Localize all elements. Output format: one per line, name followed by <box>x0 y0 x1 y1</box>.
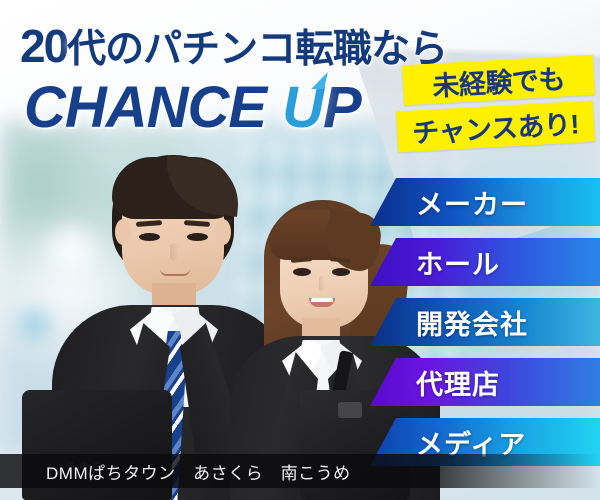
category-label: 代理店 <box>416 363 500 402</box>
category-button-maker[interactable]: メーカー <box>370 178 600 226</box>
man-ear-right <box>215 219 231 245</box>
woman-eye-left <box>293 268 311 276</box>
logo-letter-u: U <box>282 74 323 141</box>
man-eye-right <box>187 233 208 241</box>
category-button-development-company[interactable]: 開発会社 <box>370 298 600 346</box>
category-list: メーカー ホール 開発会社 代理店 メディア <box>370 178 600 478</box>
category-label: 開発会社 <box>416 303 528 342</box>
category-label: メーカー <box>416 183 528 222</box>
woman-eye-right <box>332 268 350 276</box>
credit-text: DMMぱちタウン あさくら 南こうめ <box>0 459 351 484</box>
chance-up-logo: CHANCEUP <box>24 74 361 141</box>
man-mouth <box>160 269 190 276</box>
handbag-clasp <box>338 402 362 418</box>
category-button-hall[interactable]: ホール <box>370 238 600 286</box>
logo-word-chance: CHANCE <box>24 75 266 140</box>
badge-label: 未経験でも <box>431 57 565 103</box>
credit-bar: DMMぱちタウン あさくら 南こうめ <box>0 454 600 488</box>
man-ear-left <box>115 219 131 245</box>
people-photo <box>0 140 430 500</box>
headline-number: 20 <box>20 20 67 72</box>
recruitment-banner[interactable]: 20代のパチンコ転職なら CHANCEUP 未経験でも チャンスあり! メーカー… <box>0 0 600 500</box>
woman-teeth <box>311 298 333 302</box>
page-title: 20代のパチンコ転職なら <box>20 18 447 74</box>
badge-label: チャンスあり! <box>411 102 580 150</box>
category-label: ホール <box>416 243 500 282</box>
headline-rest: 代のパチンコ転職なら <box>67 28 447 71</box>
woman-nose <box>319 276 325 291</box>
category-button-agency[interactable]: 代理店 <box>370 358 600 406</box>
logo-letter-p: P <box>323 75 361 140</box>
man-eye-left <box>139 233 160 241</box>
man-nose <box>170 243 178 261</box>
